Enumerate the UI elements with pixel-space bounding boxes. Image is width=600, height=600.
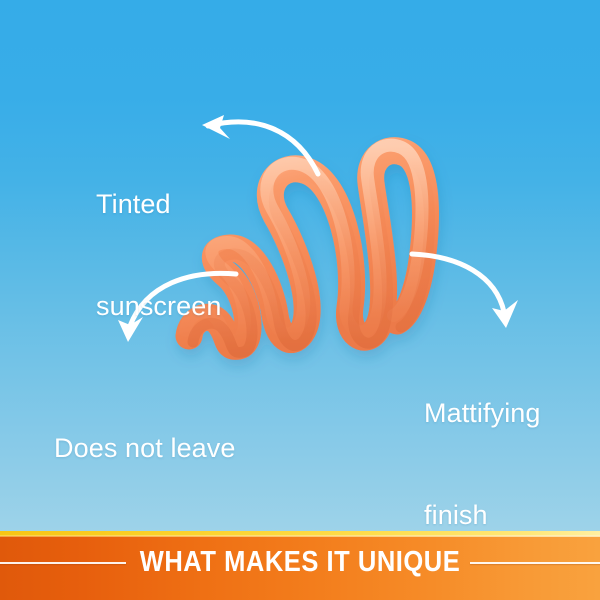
annotation-line-1: Does not leave: [54, 431, 236, 465]
banner-title: WHAT MAKES IT UNIQUE: [36, 546, 564, 579]
annotation-line-1: Tinted: [96, 187, 221, 221]
banner-top-glow-line: [0, 531, 600, 536]
annotation-line-2: sunscreen: [96, 289, 221, 323]
annotation-tinted-sunscreen: Tinted sunscreen: [96, 118, 221, 392]
annotation-line-2: finish: [424, 498, 541, 532]
infographic-canvas: Tinted sunscreen Does not leave a white …: [0, 0, 600, 600]
bottom-banner: WHAT MAKES IT UNIQUE: [0, 531, 600, 600]
annotation-line-1: Mattifying: [424, 396, 541, 430]
